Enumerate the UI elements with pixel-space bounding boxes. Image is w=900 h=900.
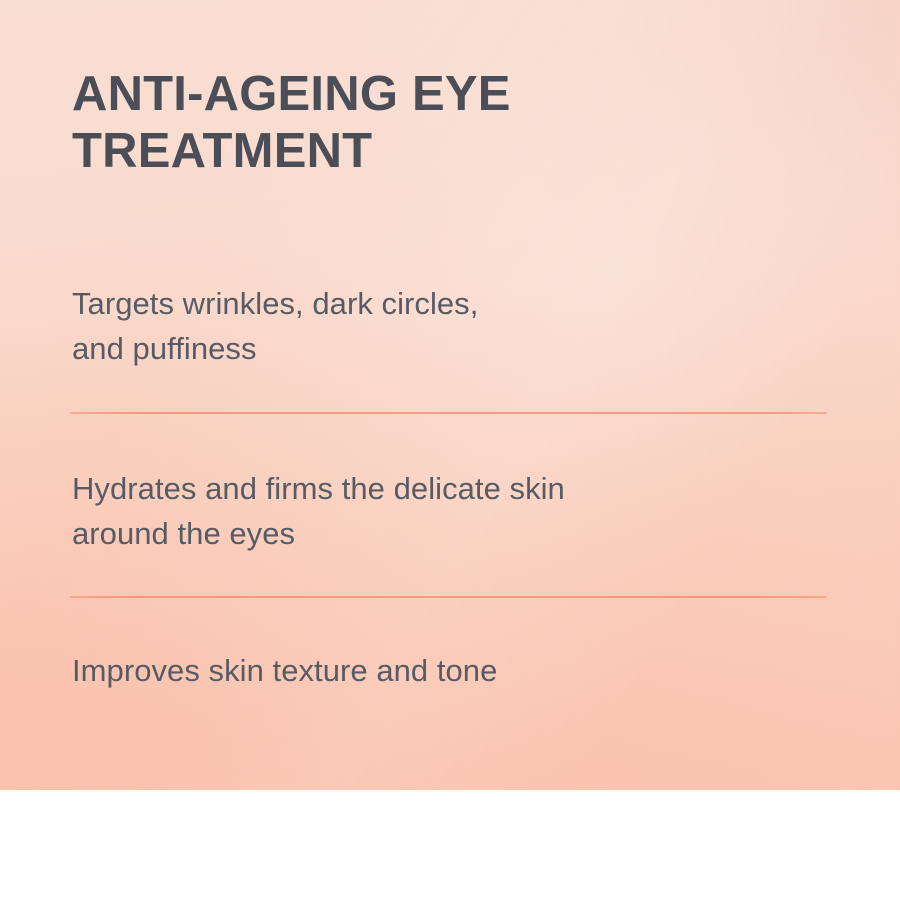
benefit-item: Improves skin texture and tone (72, 648, 840, 693)
benefit-item: Targets wrinkles, dark circles, and puff… (72, 281, 840, 371)
benefit-divider (70, 412, 827, 414)
page-title: ANTI-AGEING EYE TREATMENT (72, 66, 772, 180)
product-benefit-card: ANTI-AGEING EYE TREATMENT Targets wrinkl… (0, 0, 900, 900)
benefit-divider (70, 596, 827, 598)
benefit-item: Hydrates and firms the delicate skin aro… (72, 466, 840, 556)
hero-content: ANTI-AGEING EYE TREATMENT Targets wrinkl… (0, 0, 900, 790)
footer-bar: DRAGON’S BLOOD SKIN PHYSICS® (0, 790, 900, 900)
